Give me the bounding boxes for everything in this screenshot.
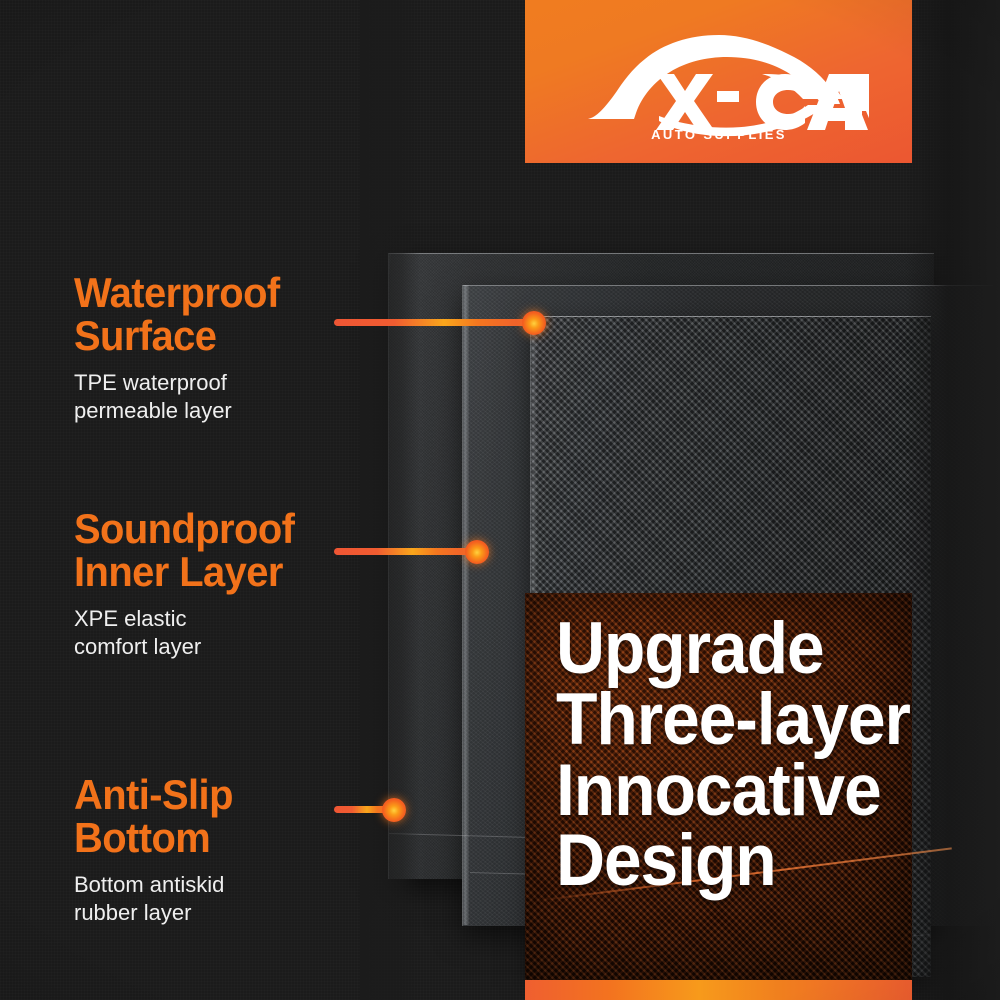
feature-title: Soundproof Inner Layer bbox=[74, 508, 331, 594]
connector-dot-icon bbox=[382, 798, 406, 822]
headline-line-3: Innocative bbox=[556, 756, 891, 827]
headline-line-4: Design bbox=[556, 826, 891, 897]
feature-callout-waterproof: Waterproof Surface TPE waterproof permea… bbox=[74, 272, 344, 425]
connector-line-anti-slip bbox=[334, 806, 394, 813]
right-shadow-falloff bbox=[905, 0, 1000, 1000]
connector-stroke bbox=[334, 319, 534, 326]
feature-desc-line-2: permeable layer bbox=[74, 397, 344, 425]
connector-line-waterproof bbox=[334, 319, 534, 326]
feature-desc-line-2: rubber layer bbox=[74, 899, 344, 927]
main-headline: Upgrade Three-layer Innocative Design bbox=[556, 614, 891, 897]
feature-title: Anti-Slip Bottom bbox=[74, 774, 331, 860]
feature-title-line-2: Surface bbox=[74, 315, 331, 358]
bottom-accent-bar bbox=[525, 980, 912, 1000]
feature-desc-line-2: comfort layer bbox=[74, 633, 344, 661]
connector-stroke bbox=[334, 548, 477, 555]
feature-callout-anti-slip: Anti-Slip Bottom Bottom antiskid rubber … bbox=[74, 774, 344, 927]
feature-desc-line-1: TPE waterproof bbox=[74, 369, 344, 397]
connector-dot-icon bbox=[522, 311, 546, 335]
x-car-logo: AUTO SUPPLIES bbox=[569, 29, 869, 141]
headline-line-2: Three-layer bbox=[556, 685, 891, 756]
brand-banner: AUTO SUPPLIES bbox=[525, 0, 912, 163]
infographic-canvas: AUTO SUPPLIES Upgrade Three-layer Innoca… bbox=[0, 0, 1000, 1000]
feature-desc-line-1: Bottom antiskid bbox=[74, 871, 344, 899]
feature-title-line-1: Anti-Slip bbox=[74, 774, 331, 817]
feature-title-line-2: Bottom bbox=[74, 817, 331, 860]
feature-description: Bottom antiskid rubber layer bbox=[74, 871, 344, 927]
feature-title-line-1: Soundproof bbox=[74, 508, 331, 551]
connector-dot-icon bbox=[465, 540, 489, 564]
left-shadow-falloff bbox=[360, 0, 420, 1000]
feature-description: XPE elastic comfort layer bbox=[74, 605, 344, 661]
feature-title-line-2: Inner Layer bbox=[74, 551, 331, 594]
feature-callout-soundproof: Soundproof Inner Layer XPE elastic comfo… bbox=[74, 508, 344, 661]
connector-line-soundproof bbox=[334, 548, 477, 555]
feature-title-line-1: Waterproof bbox=[74, 272, 331, 315]
feature-description: TPE waterproof permeable layer bbox=[74, 369, 344, 425]
mat-edge-bevel-middle bbox=[462, 285, 469, 925]
feature-desc-line-1: XPE elastic bbox=[74, 605, 344, 633]
feature-title: Waterproof Surface bbox=[74, 272, 331, 358]
svg-text:AUTO SUPPLIES: AUTO SUPPLIES bbox=[651, 127, 787, 141]
headline-line-1: Upgrade bbox=[556, 614, 891, 685]
